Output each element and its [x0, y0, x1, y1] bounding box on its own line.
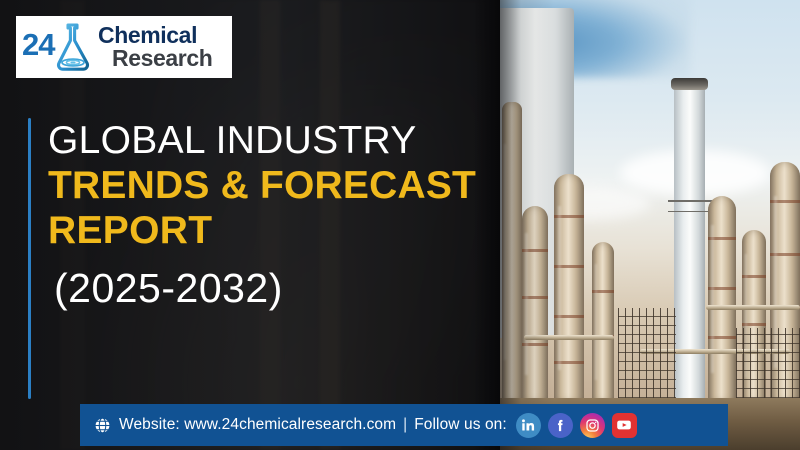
- distillation-column: [554, 174, 584, 402]
- smokestack-platform: [668, 200, 712, 212]
- title-line-global-industry: GLOBAL INDUSTRY: [48, 121, 488, 160]
- steel-scaffolding: [618, 308, 676, 398]
- logo-word-research: Research: [112, 47, 212, 70]
- distillation-column: [522, 206, 548, 402]
- pipe-run: [706, 305, 800, 310]
- brand-logo[interactable]: 24 Chemical Research: [16, 16, 232, 78]
- logo-wordmark: Chemical Research: [98, 24, 212, 71]
- youtube-icon[interactable]: [612, 413, 637, 438]
- distillation-column: [592, 242, 614, 402]
- instagram-icon[interactable]: [580, 413, 605, 438]
- footer-bar: Website: www.24chemicalresearch.com | Fo…: [80, 404, 728, 446]
- follow-us-label: Follow us on:: [414, 416, 507, 434]
- smokestack: [674, 82, 705, 402]
- title-line-years: (2025-2032): [48, 268, 488, 309]
- facebook-icon[interactable]: [548, 413, 573, 438]
- website-label[interactable]: Website: www.24chemicalresearch.com: [119, 416, 396, 434]
- flask-icon: [52, 22, 94, 74]
- logo-word-chemical: Chemical: [98, 24, 212, 47]
- distillation-column: [502, 102, 522, 402]
- steel-scaffolding: [736, 328, 800, 398]
- globe-icon: [94, 417, 111, 434]
- pipe-run: [524, 335, 614, 340]
- smokestack-cap: [671, 78, 708, 90]
- logo-mark: 24: [22, 20, 96, 74]
- distillation-column: [708, 196, 736, 402]
- title-line-trends-forecast: TRENDS & FORECAST: [48, 166, 488, 205]
- industrial-refinery-photo: [500, 0, 800, 450]
- footer-separator: |: [403, 416, 407, 434]
- linkedin-icon[interactable]: [516, 413, 541, 438]
- social-links: [516, 413, 637, 438]
- report-cover-banner: 24 Chemical Research GL: [0, 0, 800, 450]
- page-title: GLOBAL INDUSTRY TRENDS & FORECAST REPORT…: [48, 121, 488, 309]
- accent-vertical-rule: [28, 118, 31, 399]
- logo-number: 24: [22, 29, 54, 60]
- title-line-report: REPORT: [48, 211, 488, 250]
